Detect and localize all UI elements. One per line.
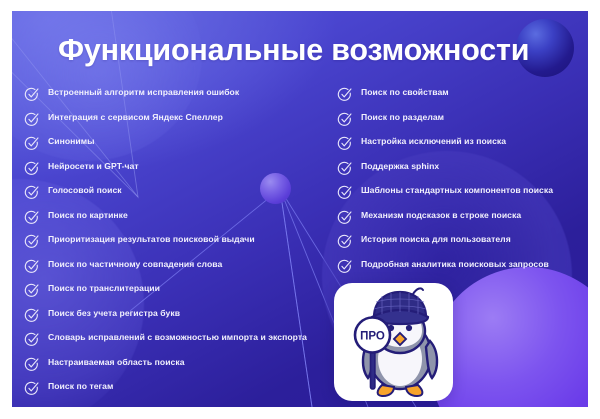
feature-item: Поиск по частичному совпадения слова <box>24 259 334 274</box>
check-circle-icon <box>337 161 352 176</box>
feature-item: Интеграция с сервисом Яндекс Спеллер <box>24 112 334 127</box>
mascot-card: ПРО <box>334 283 453 401</box>
check-circle-icon <box>337 234 352 249</box>
feature-label: Поиск по частичному совпадения слова <box>48 259 222 270</box>
check-circle-icon <box>337 136 352 151</box>
check-circle-icon <box>24 185 39 200</box>
check-circle-icon <box>24 259 39 274</box>
feature-item: Поиск без учета регистра букв <box>24 308 334 323</box>
magnifier-label: ПРО <box>360 331 385 343</box>
check-circle-icon <box>24 112 39 127</box>
features-container: Встроенный алгоритм исправления ошибокИн… <box>12 11 588 407</box>
check-circle-icon <box>24 136 39 151</box>
detective-penguin-mascot: ПРО <box>334 283 453 401</box>
feature-item: Словарь исправлений с возможностью импор… <box>24 332 334 347</box>
feature-item: Шаблоны стандартных компонентов поиска <box>337 185 583 200</box>
check-circle-icon <box>337 112 352 127</box>
check-circle-icon <box>24 283 39 298</box>
feature-label: Голосовой поиск <box>48 185 122 196</box>
check-circle-icon <box>24 161 39 176</box>
features-left-column: Встроенный алгоритм исправления ошибокИн… <box>24 87 334 406</box>
feature-item: Встроенный алгоритм исправления ошибок <box>24 87 334 102</box>
check-circle-icon <box>337 136 352 151</box>
check-circle-icon <box>24 357 39 372</box>
feature-label: Поиск по тегам <box>48 381 113 392</box>
feature-label: Встроенный алгоритм исправления ошибок <box>48 87 239 98</box>
feature-item: Механизм подсказок в строке поиска <box>337 210 583 225</box>
check-circle-icon <box>337 234 352 249</box>
feature-label: Поиск по разделам <box>361 112 444 123</box>
check-circle-icon <box>24 283 39 298</box>
feature-label: Поиск по свойствам <box>361 87 449 98</box>
check-circle-icon <box>24 308 39 323</box>
check-circle-icon <box>337 259 352 274</box>
feature-item: Поиск по тегам <box>24 381 334 396</box>
check-circle-icon <box>337 87 352 102</box>
feature-item: Поиск по свойствам <box>337 87 583 102</box>
check-circle-icon <box>24 210 39 225</box>
check-circle-icon <box>24 381 39 396</box>
feature-item: Поддержка sphinx <box>337 161 583 176</box>
feature-label: История поиска для пользователя <box>361 234 511 245</box>
check-circle-icon <box>24 234 39 249</box>
check-circle-icon <box>337 259 352 274</box>
feature-label: Интеграция с сервисом Яндекс Спеллер <box>48 112 223 123</box>
feature-item: История поиска для пользователя <box>337 234 583 249</box>
feature-label: Поиск без учета регистра букв <box>48 308 180 319</box>
feature-item: Поиск по разделам <box>337 112 583 127</box>
check-circle-icon <box>24 136 39 151</box>
feature-label: Поддержка sphinx <box>361 161 439 172</box>
feature-item: Поиск по картинке <box>24 210 334 225</box>
features-right-column: Поиск по свойствамПоиск по разделамНастр… <box>337 87 583 283</box>
feature-label: Шаблоны стандартных компонентов поиска <box>361 185 553 196</box>
feature-item: Приоритизация результатов поисковой выда… <box>24 234 334 249</box>
check-circle-icon <box>337 161 352 176</box>
feature-item: Подробная аналитика поисковых запросов <box>337 259 583 274</box>
feature-label: Механизм подсказок в строке поиска <box>361 210 521 221</box>
check-circle-icon <box>337 185 352 200</box>
feature-label: Приоритизация результатов поисковой выда… <box>48 234 255 245</box>
check-circle-icon <box>24 308 39 323</box>
check-circle-icon <box>24 87 39 102</box>
check-circle-icon <box>24 161 39 176</box>
feature-label: Подробная аналитика поисковых запросов <box>361 259 549 270</box>
feature-label: Нейросети и GPT-чат <box>48 161 139 172</box>
check-circle-icon <box>24 112 39 127</box>
slide-canvas: Функциональные возможности Встроенный ал… <box>12 11 588 407</box>
check-circle-icon <box>24 87 39 102</box>
check-circle-icon <box>24 357 39 372</box>
check-circle-icon <box>24 332 39 347</box>
feature-label: Поиск по транслитерации <box>48 283 160 294</box>
check-circle-icon <box>337 112 352 127</box>
feature-label: Настраиваемая область поиска <box>48 357 185 368</box>
check-circle-icon <box>337 210 352 225</box>
check-circle-icon <box>24 234 39 249</box>
feature-label: Настройка исключений из поиска <box>361 136 506 147</box>
feature-label: Поиск по картинке <box>48 210 128 221</box>
feature-item: Настраиваемая область поиска <box>24 357 334 372</box>
check-circle-icon <box>24 381 39 396</box>
page-title: Функциональные возможности <box>58 34 529 68</box>
feature-item: Нейросети и GPT-чат <box>24 161 334 176</box>
feature-label: Словарь исправлений с возможностью импор… <box>48 332 307 343</box>
check-circle-icon <box>337 87 352 102</box>
check-circle-icon <box>337 210 352 225</box>
feature-item: Синонимы <box>24 136 334 151</box>
check-circle-icon <box>24 210 39 225</box>
check-circle-icon <box>24 259 39 274</box>
feature-item: Голосовой поиск <box>24 185 334 200</box>
check-circle-icon <box>24 185 39 200</box>
feature-item: Поиск по транслитерации <box>24 283 334 298</box>
check-circle-icon <box>24 332 39 347</box>
check-circle-icon <box>337 185 352 200</box>
feature-item: Настройка исключений из поиска <box>337 136 583 151</box>
feature-label: Синонимы <box>48 136 95 147</box>
